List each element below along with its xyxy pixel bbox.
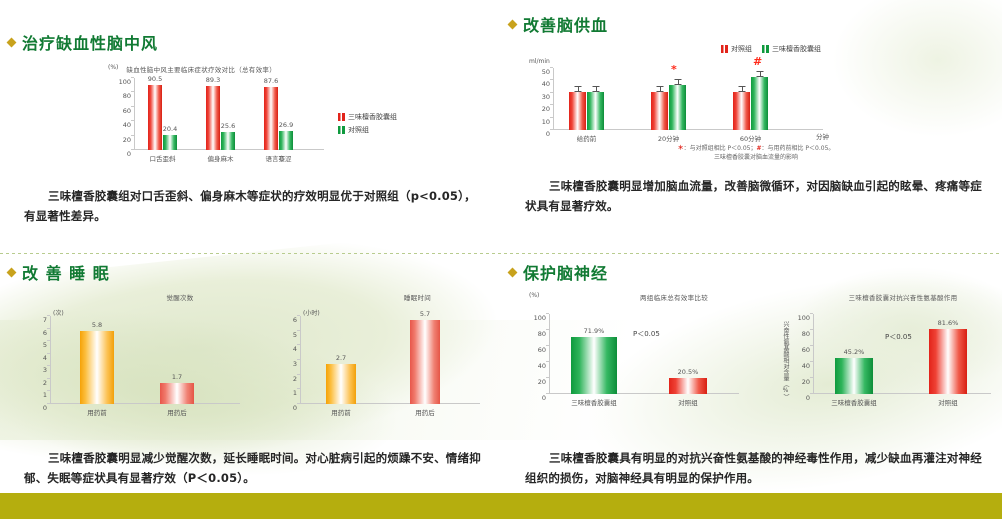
legend-stroke: 三味檀香胶囊组 对照组 xyxy=(338,112,397,135)
diamond-bullet-icon xyxy=(7,267,17,277)
y-tick-100: 100 xyxy=(534,314,546,322)
y-axis-line xyxy=(50,316,51,404)
section-heading-neuro: 保护脑神经 xyxy=(509,260,1002,284)
bar-label-amino-acid-control: 81.6% xyxy=(938,319,959,327)
y-tick-80: 80 xyxy=(802,330,810,338)
diamond-bullet-icon xyxy=(7,37,17,47)
x-label-efficacy-control: 对照组 xyxy=(678,397,698,407)
x-label-sleep-duration-before: 用药前 xyxy=(331,407,351,417)
x-label-bloodflow-g2: 20分钟 xyxy=(658,133,679,143)
plot-area-bloodflow: 0 10 20 30 40 50 给药前 xyxy=(553,68,823,130)
bar-stroke-g2-treatment: 89.3 xyxy=(206,86,220,150)
bar-bloodflow-g2-treatment xyxy=(669,85,686,130)
paragraph-neuro: 三味檀香胶囊具有明显的对抗兴奋性氨基酸的神经毒性作用，减少缺血再灌注对神经组织的… xyxy=(525,448,984,488)
diamond-bullet-icon xyxy=(508,19,518,29)
chart-title-efficacy: 两组临床总有效率比较 xyxy=(583,292,765,302)
chart-title-stroke: 缺血性脑中风主要临床症状疗效对比（总有效率） xyxy=(126,64,408,74)
footnote-bloodflow: ＊：与对照组相比 P＜0.05；#：与用药前相比 P＜0.05。 三味檀香胶囊对… xyxy=(531,144,981,162)
chart-sleep-duration: 睡眠时间 (小时) 0 1 2 3 4 5 6 2.7 xyxy=(280,292,495,404)
bar-stroke-g2-control: 25.6 xyxy=(221,132,235,150)
p-value-efficacy: P＜0.05 xyxy=(633,329,660,339)
y-tick-0: 0 xyxy=(806,394,810,402)
y-tick-100: 100 xyxy=(798,314,810,322)
bar-sleep-duration-after: 5.7 用药后 xyxy=(410,320,440,404)
section-heading-bloodflow-label: 改善脑供血 xyxy=(523,12,608,36)
paragraph-bloodflow-text: 三味檀香胶囊明显增加脑血流量，改善脑微循环，对因脑缺血引起的眩晕、疼痛等症状具有… xyxy=(525,179,982,213)
y-tick-5: 5 xyxy=(43,341,47,349)
bar-stroke-g1-control: 20.4 xyxy=(163,135,177,150)
bar-label-awakening-after: 1.7 xyxy=(172,373,182,381)
x-label-sleep-duration-after: 用药后 xyxy=(415,407,435,417)
bar-bloodflow-g1-control xyxy=(569,92,586,130)
y-axis-title-amino-acid: 兴奋性氨基酸相对含量（%） xyxy=(781,321,790,400)
section-heading-sleep: 改 善 睡 眠 xyxy=(8,260,501,284)
plot-area-stroke: 0 20 40 60 80 100 90.5 20.4 口舌歪斜 xyxy=(134,78,324,150)
y-tick-80: 80 xyxy=(123,92,131,100)
footnote-caption-bloodflow: 三味檀香胶囊对脑血流量的影响 xyxy=(531,153,981,162)
chart-unit-label-awakening: (次) xyxy=(53,308,64,317)
bar-stroke-g1-treatment: 90.5 xyxy=(148,85,162,150)
y-axis-line xyxy=(134,78,135,150)
x-label-bloodflow-g3: 60分钟 xyxy=(740,133,761,143)
y-tick-0: 0 xyxy=(293,404,297,412)
chart-title-amino-acid: 三味檀香胶囊对抗兴奋性氨基酸作用 xyxy=(811,292,995,302)
diamond-bullet-icon xyxy=(508,267,518,277)
section-blood-supply: 改善脑供血 对照组 三味檀香胶囊组 ml/min 0 10 20 30 40 5… xyxy=(501,12,1002,254)
legend-item-treatment: 三味檀香胶囊组 xyxy=(762,44,821,54)
y-tick-20: 20 xyxy=(542,105,550,113)
x-label-amino-acid-control: 对照组 xyxy=(938,397,958,407)
plot-area-efficacy: 0 20 40 60 80 100 71.9% 三味檀香胶囊组 20.5% xyxy=(549,314,739,394)
chart-cerebral-blood-flow: 对照组 三味檀香胶囊组 ml/min 0 10 20 30 40 50 xyxy=(521,44,981,162)
chart-clinical-efficacy: (%) 两组临床总有效率比较 0 20 40 60 80 100 71.9% xyxy=(525,292,765,394)
bar-label-efficacy-treatment: 71.9% xyxy=(584,327,605,335)
bar-stroke-g3-control: 26.9 xyxy=(279,131,293,150)
y-tick-3: 3 xyxy=(293,360,297,368)
paragraph-sleep-text: 三味檀香胶囊明显减少觉醒次数，延长睡眠时间。对心脏病引起的烦躁不安、情绪抑郁、失… xyxy=(24,451,481,485)
y-axis-line xyxy=(549,314,550,394)
section-heading-stroke-label: 治疗缺血性脑中风 xyxy=(22,30,158,54)
y-tick-60: 60 xyxy=(538,346,546,354)
y-axis-line xyxy=(300,316,301,404)
bar-bloodflow-g2-control xyxy=(651,92,668,130)
annotation-asterisk: * xyxy=(671,63,677,76)
legend-swatch-green-icon xyxy=(338,126,345,134)
bar-label-stroke-g2-treatment: 89.3 xyxy=(206,76,220,84)
x-label-amino-acid-treatment: 三味檀香胶囊组 xyxy=(831,397,877,407)
bar-label-stroke-g1-control: 20.4 xyxy=(163,125,177,133)
legend-swatch-red-icon xyxy=(721,45,728,53)
y-tick-30: 30 xyxy=(542,93,550,101)
chart-stroke-efficacy: (%) 缺血性脑中风主要临床症状疗效对比（总有效率） 0 20 40 60 80… xyxy=(108,64,408,150)
x-label-bloodflow-g1: 给药前 xyxy=(577,133,597,143)
chart-title-awakening: 觉醒次数 xyxy=(100,292,260,302)
y-tick-1: 1 xyxy=(43,391,47,399)
y-tick-50: 50 xyxy=(542,68,550,76)
legend-item-control: 对照组 xyxy=(338,125,369,135)
x-label-awakening-after: 用药后 xyxy=(167,407,187,417)
paragraph-stroke-text: 三味檀香胶囊组对口舌歪斜、偏身麻木等症状的疗效明显优于对照组（p<0.05），有… xyxy=(24,189,476,223)
paragraph-bloodflow: 三味檀香胶囊明显增加脑血流量，改善脑微循环，对因脑缺血引起的眩晕、疼痛等症状具有… xyxy=(525,176,982,216)
y-tick-60: 60 xyxy=(123,107,131,115)
y-tick-40: 40 xyxy=(542,80,550,88)
plot-area-sleep-duration: (小时) 0 1 2 3 4 5 6 2.7 用药前 xyxy=(300,316,480,404)
y-tick-80: 80 xyxy=(538,330,546,338)
plot-area-awakening: (次) 0 1 2 3 4 5 6 7 5.8 用药前 xyxy=(50,316,240,404)
bar-label-stroke-g1-treatment: 90.5 xyxy=(148,75,162,83)
y-tick-3: 3 xyxy=(43,366,47,374)
bar-label-sleep-duration-before: 2.7 xyxy=(336,354,346,362)
y-tick-1: 1 xyxy=(293,389,297,397)
legend-item-treatment: 三味檀香胶囊组 xyxy=(338,112,397,122)
y-tick-4: 4 xyxy=(293,345,297,353)
y-tick-20: 20 xyxy=(538,378,546,386)
bar-bloodflow-g3-control xyxy=(733,92,750,130)
x-label-stroke-g1: 口舌歪斜 xyxy=(150,153,176,163)
bar-sleep-duration-before: 2.7 用药前 xyxy=(326,364,356,404)
chart-title-sleep-duration: 睡眠时间 xyxy=(340,292,495,302)
y-tick-10: 10 xyxy=(542,118,550,126)
legend-bloodflow: 对照组 三味檀香胶囊组 xyxy=(561,44,981,54)
bar-amino-acid-control: 81.6% 对照组 xyxy=(929,329,967,394)
x-axis-line xyxy=(50,403,240,404)
p-value-amino-acid: P＜0.05 xyxy=(885,332,912,342)
bar-label-stroke-g3-treatment: 87.6 xyxy=(264,77,278,85)
paragraph-sleep: 三味檀香胶囊明显减少觉醒次数，延长睡眠时间。对心脏病引起的烦躁不安、情绪抑郁、失… xyxy=(24,448,487,488)
bar-label-efficacy-control: 20.5% xyxy=(678,368,699,376)
footnote-text-b: ：与用药前相比 P＜0.05。 xyxy=(762,145,835,152)
legend-label-control: 对照组 xyxy=(731,44,752,54)
legend-item-control: 对照组 xyxy=(721,44,752,54)
section-stroke-treatment: 治疗缺血性脑中风 (%) 缺血性脑中风主要临床症状疗效对比（总有效率） 0 20… xyxy=(0,30,501,254)
x-label-stroke-g3: 语言蹇涩 xyxy=(266,153,292,163)
paragraph-stroke: 三味檀香胶囊组对口舌歪斜、偏身麻木等症状的疗效明显优于对照组（p<0.05），有… xyxy=(24,186,481,226)
y-tick-2: 2 xyxy=(293,375,297,383)
y-axis-line xyxy=(553,68,554,130)
bar-label-sleep-duration-after: 5.7 xyxy=(420,310,430,318)
legend-swatch-red-icon xyxy=(338,113,345,121)
y-tick-6: 6 xyxy=(293,316,297,324)
y-tick-0: 0 xyxy=(542,394,546,402)
section-heading-sleep-label: 改 善 睡 眠 xyxy=(22,260,110,284)
plot-area-amino-acid: 兴奋性氨基酸相对含量（%） 0 20 40 60 80 100 45.2% 三味… xyxy=(813,314,991,394)
bar-label-amino-acid-treatment: 45.2% xyxy=(844,348,865,356)
chart-unit-label-efficacy: (%) xyxy=(529,292,539,299)
bar-stroke-g3-treatment: 87.6 xyxy=(264,87,278,150)
annotation-hash: # xyxy=(753,55,762,68)
paragraph-neuro-text: 三味檀香胶囊具有明显的对抗兴奋性氨基酸的神经毒性作用，减少缺血再灌注对神经组织的… xyxy=(525,451,982,485)
x-label-awakening-before: 用药前 xyxy=(87,407,107,417)
y-tick-0: 0 xyxy=(546,130,550,138)
bar-label-stroke-g3-control: 26.9 xyxy=(279,121,293,129)
y-tick-6: 6 xyxy=(43,329,47,337)
y-tick-40: 40 xyxy=(802,362,810,370)
y-axis-line xyxy=(813,314,814,394)
y-tick-4: 4 xyxy=(43,354,47,362)
section-neuroprotection: 保护脑神经 (%) 两组临床总有效率比较 0 20 40 60 80 100 xyxy=(501,260,1002,493)
y-tick-2: 2 xyxy=(43,379,47,387)
y-tick-60: 60 xyxy=(802,346,810,354)
y-tick-5: 5 xyxy=(293,331,297,339)
chart-unit-label-sleep-duration: (小时) xyxy=(303,308,320,317)
section-sleep-improvement: 改 善 睡 眠 觉醒次数 (次) 0 1 2 3 4 5 6 7 xyxy=(0,260,501,493)
bar-awakening-before: 5.8 用药前 xyxy=(80,331,114,404)
section-heading-neuro-label: 保护脑神经 xyxy=(523,260,608,284)
bar-awakening-after: 1.7 用药后 xyxy=(160,383,194,404)
y-tick-0: 0 xyxy=(43,404,47,412)
x-label-efficacy-treatment: 三味檀香胶囊组 xyxy=(571,397,617,407)
bar-bloodflow-g1-treatment xyxy=(587,92,604,130)
y-tick-7: 7 xyxy=(43,316,47,324)
x-axis-title-bloodflow: 分钟 xyxy=(816,131,829,141)
chart-unit-label-stroke: (%) xyxy=(108,64,118,71)
y-tick-0: 0 xyxy=(127,150,131,158)
chart-excitatory-amino-acid: 三味檀香胶囊对抗兴奋性氨基酸作用 兴奋性氨基酸相对含量（%） 0 20 40 6… xyxy=(769,292,995,394)
y-tick-40: 40 xyxy=(123,121,131,129)
y-tick-20: 20 xyxy=(802,378,810,386)
bar-efficacy-control: 20.5% 对照组 xyxy=(669,378,707,394)
section-heading-bloodflow: 改善脑供血 xyxy=(509,12,1002,36)
bar-label-stroke-g2-control: 25.6 xyxy=(221,122,235,130)
legend-label-treatment: 三味檀香胶囊组 xyxy=(772,44,821,54)
bar-amino-acid-treatment: 45.2% 三味檀香胶囊组 xyxy=(835,358,873,394)
bar-efficacy-treatment: 71.9% 三味檀香胶囊组 xyxy=(571,337,617,395)
legend-label-control: 对照组 xyxy=(348,125,369,135)
chart-awakening-count: 觉醒次数 (次) 0 1 2 3 4 5 6 7 xyxy=(30,292,260,404)
y-tick-40: 40 xyxy=(538,362,546,370)
legend-label-treatment: 三味檀香胶囊组 xyxy=(348,112,397,122)
footnote-text-a: ：与对照组相比 P＜0.05； xyxy=(684,145,757,152)
section-heading-stroke: 治疗缺血性脑中风 xyxy=(8,30,501,54)
legend-swatch-green-icon xyxy=(762,45,769,53)
y-tick-20: 20 xyxy=(123,136,131,144)
bottom-color-band xyxy=(0,493,1002,519)
x-label-stroke-g2: 偏身麻木 xyxy=(208,153,234,163)
bar-label-awakening-before: 5.8 xyxy=(92,321,102,329)
y-tick-100: 100 xyxy=(119,78,131,86)
bar-bloodflow-g3-treatment xyxy=(751,77,768,130)
